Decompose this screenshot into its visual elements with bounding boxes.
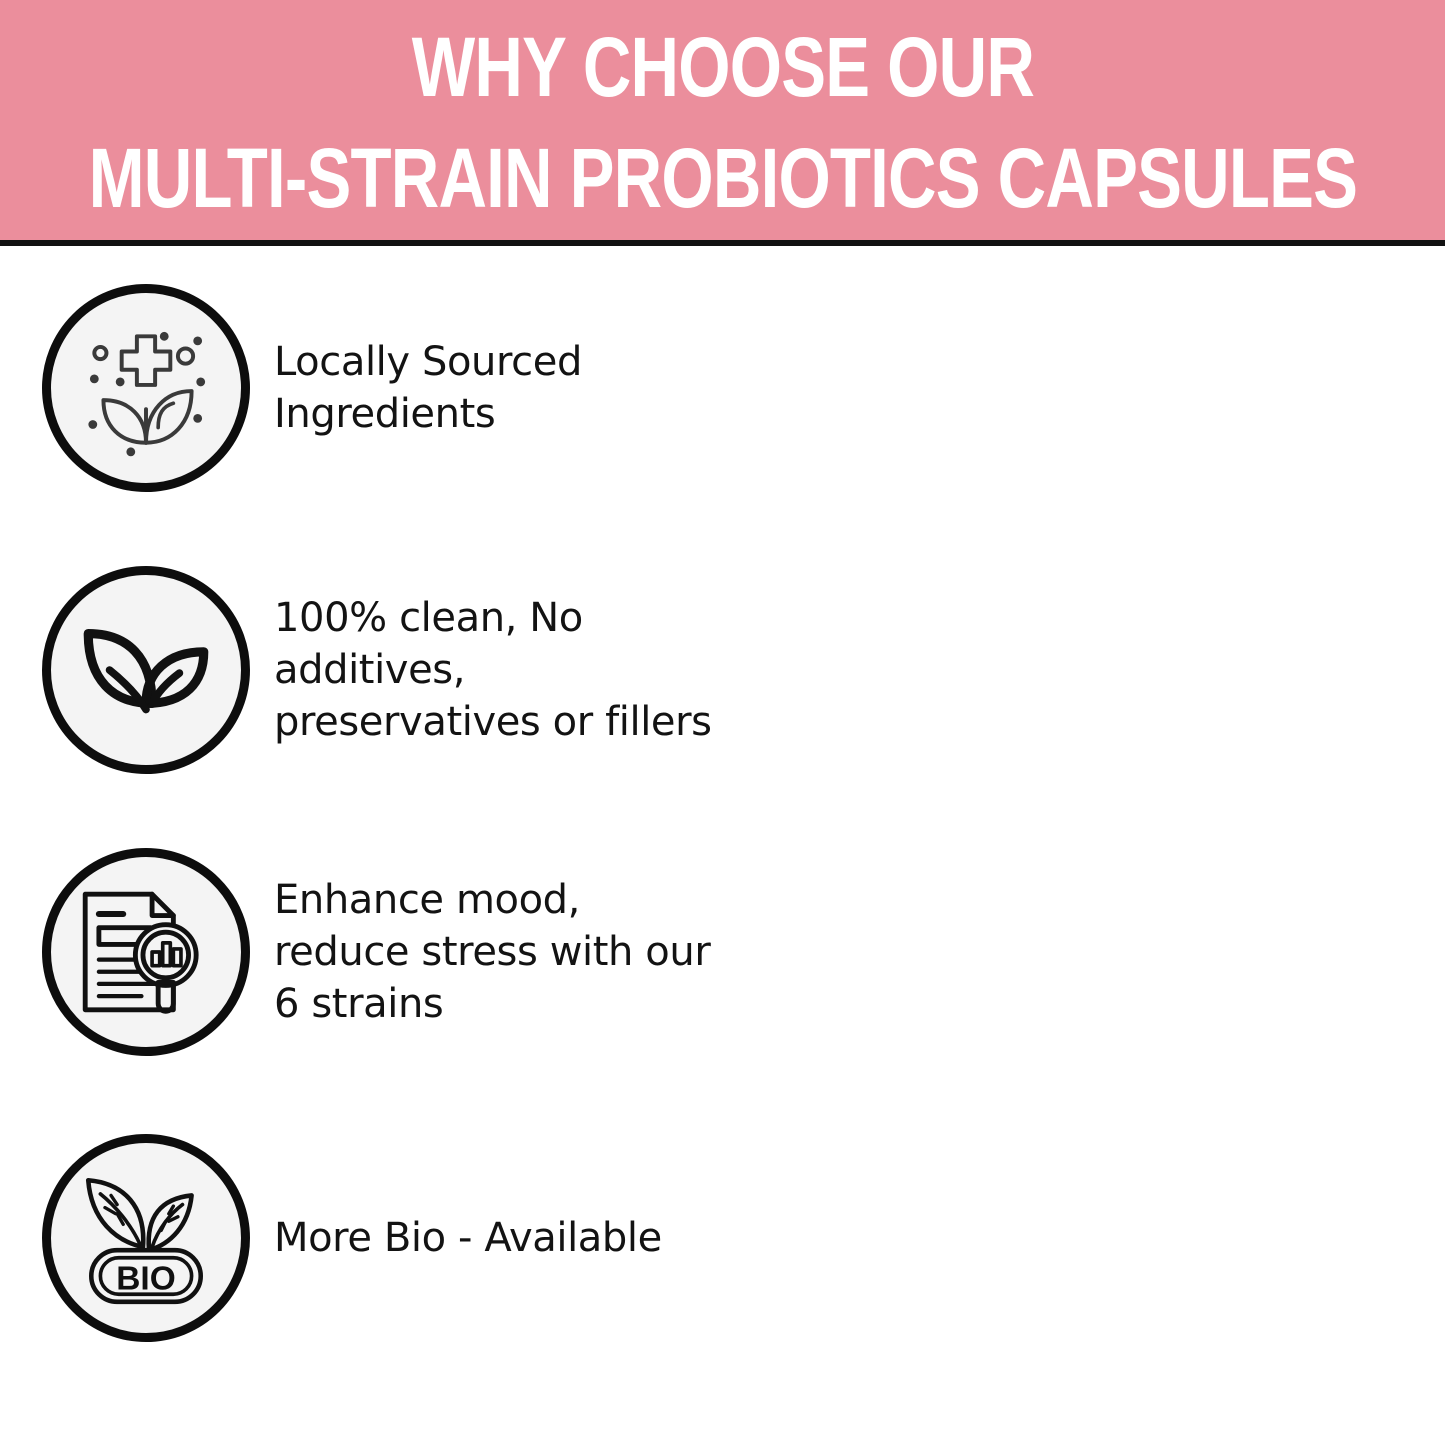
- features-grid: Locally Sourced Ingredients Easy to swa: [0, 246, 1445, 1445]
- infographic-page: WHY CHOOSE OUR MULTI-STRAIN PROBIOTICS C…: [0, 0, 1445, 1445]
- page-header: WHY CHOOSE OUR MULTI-STRAIN PROBIOTICS C…: [0, 0, 1445, 240]
- feature-item-easy-to-swallow-capsules: Easy to swallow Capsules: [723, 246, 1445, 529]
- document-magnifier-chart-icon: [42, 848, 250, 1056]
- cross-leaves-sparkle-icon: [42, 284, 250, 492]
- bio-icon-text: BIO: [116, 1261, 175, 1298]
- feature-item-more-bio-available: BIO More Bio - Available: [0, 1093, 723, 1383]
- feature-label: Locally Sourced Ingredients: [274, 336, 723, 440]
- feature-item-eco-friendly-packaging: Eco-friendly packaging: [723, 1093, 1445, 1383]
- feature-item-enhance-mood-reduce-stress: Enhance mood, reduce stress with our 6 s…: [0, 811, 723, 1093]
- feature-label: 100% clean, No additives, preservatives …: [274, 592, 723, 748]
- feature-item-locally-sourced-ingredients: Locally Sourced Ingredients: [0, 246, 723, 529]
- feature-label: More Bio - Available: [274, 1212, 662, 1264]
- feature-item-vegan-vegetarian-non-gmo: VEGAN Vegan and vegeterian friendly, Non…: [723, 529, 1445, 811]
- header-title-line-1: WHY CHOOSE OUR: [411, 23, 1033, 112]
- feature-item-60-capsule-serving: 60 60 Capsule Serving (2 months supply): [723, 811, 1445, 1093]
- feature-label: Enhance mood, reduce stress with our 6 s…: [274, 874, 723, 1030]
- feature-item-clean-no-additives: 100% clean, No additives, preservatives …: [0, 529, 723, 811]
- bio-leaves-icon: BIO: [42, 1134, 250, 1342]
- two-leaves-icon: [42, 566, 250, 774]
- header-title-line-2: MULTI-STRAIN PROBIOTICS CAPSULES: [88, 134, 1357, 223]
